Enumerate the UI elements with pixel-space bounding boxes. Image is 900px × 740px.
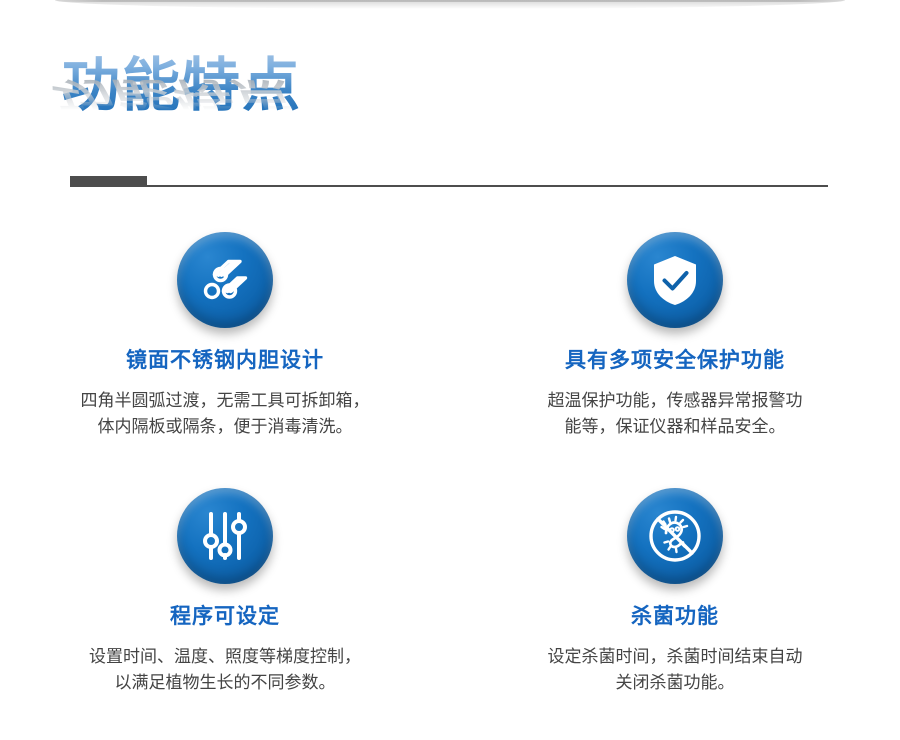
feature-description-line: 四角半圆弧过渡，无需工具可拆卸箱， xyxy=(81,388,370,414)
feature-description-line: 设定杀菌时间，杀菌时间结束自动 xyxy=(548,644,803,670)
feature-icon-badge xyxy=(627,488,723,584)
feature-icon-badge xyxy=(627,232,723,328)
feature-description-line: 以满足植物生长的不同参数。 xyxy=(89,670,361,696)
page-title: 功能特点 xyxy=(62,52,482,118)
feature-description-line: 能等，保证仪器和样品安全。 xyxy=(548,414,803,440)
feature-description-line: 设置时间、温度、照度等梯度控制， xyxy=(89,644,361,670)
stacked-pipes-icon xyxy=(197,252,253,308)
feature-description: 四角半圆弧过渡，无需工具可拆卸箱， 体内隔板或隔条，便于消毒清洗。 xyxy=(81,388,370,440)
feature-description: 设定杀菌时间，杀菌时间结束自动 关闭杀菌功能。 xyxy=(548,644,803,696)
feature-title: 杀菌功能 xyxy=(631,600,719,630)
shield-check-icon xyxy=(649,252,701,308)
feature-title: 镜面不锈钢内胆设计 xyxy=(126,344,324,374)
section-divider xyxy=(70,176,828,187)
feature-description-line: 超温保护功能，传感器异常报警功 xyxy=(548,388,803,414)
sliders-icon xyxy=(198,509,252,563)
divider-line xyxy=(70,185,828,187)
feature-description: 设置时间、温度、照度等梯度控制， 以满足植物生长的不同参数。 xyxy=(89,644,361,696)
top-edge-shadow xyxy=(55,0,845,9)
feature-card: 程序可设定 设置时间、温度、照度等梯度控制， 以满足植物生长的不同参数。 xyxy=(0,488,450,696)
feature-icon-badge xyxy=(177,488,273,584)
feature-icon-badge xyxy=(177,232,273,328)
feature-description-line: 体内隔板或隔条，便于消毒清洗。 xyxy=(81,414,370,440)
page-title-block: 功能特点 功能特点 xyxy=(62,52,482,172)
feature-title: 具有多项安全保护功能 xyxy=(565,344,785,374)
feature-title: 程序可设定 xyxy=(170,600,280,630)
feature-card: 具有多项安全保护功能 超温保护功能，传感器异常报警功 能等，保证仪器和样品安全。 xyxy=(450,232,900,440)
feature-description: 超温保护功能，传感器异常报警功 能等，保证仪器和样品安全。 xyxy=(548,388,803,440)
no-bacteria-icon xyxy=(646,507,704,565)
feature-card: 杀菌功能 设定杀菌时间，杀菌时间结束自动 关闭杀菌功能。 xyxy=(450,488,900,696)
feature-grid: 镜面不锈钢内胆设计 四角半圆弧过渡，无需工具可拆卸箱， 体内隔板或隔条，便于消毒… xyxy=(0,232,900,696)
feature-description-line: 关闭杀菌功能。 xyxy=(548,670,803,696)
feature-card: 镜面不锈钢内胆设计 四角半圆弧过渡，无需工具可拆卸箱， 体内隔板或隔条，便于消毒… xyxy=(0,232,450,440)
